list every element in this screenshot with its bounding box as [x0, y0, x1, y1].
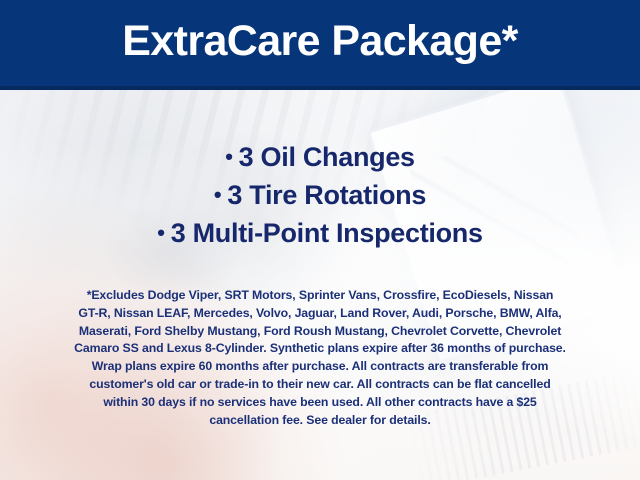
benefit-label: 3 Tire Rotations [227, 180, 426, 210]
disclaimer-text: *Excludes Dodge Viper, SRT Motors, Sprin… [26, 287, 614, 429]
disclaimer-line: within 30 days if no services have been … [26, 394, 614, 412]
extracare-package-ad: ExtraCare Package* •3 Oil Changes •3 Tir… [0, 0, 640, 480]
benefit-item-oil-changes: •3 Oil Changes [0, 138, 640, 176]
disclaimer-line: Wrap plans expire 60 months after purcha… [26, 358, 614, 376]
disclaimer-line: cancellation fee. See dealer for details… [26, 412, 614, 430]
page-title: ExtraCare Package* [122, 20, 518, 67]
disclaimer-line: *Excludes Dodge Viper, SRT Motors, Sprin… [26, 287, 614, 305]
disclaimer-line: GT-R, Nissan LEAF, Mercedes, Volvo, Jagu… [26, 305, 614, 323]
benefit-item-multi-point-inspections: •3 Multi-Point Inspections [0, 214, 640, 252]
benefits-list: •3 Oil Changes •3 Tire Rotations •3 Mult… [0, 138, 640, 252]
bullet-icon: • [225, 144, 232, 169]
disclaimer-line: Maserati, Ford Shelby Mustang, Ford Rous… [26, 323, 614, 341]
disclaimer-line: Camaro SS and Lexus 8-Cylinder. Syntheti… [26, 340, 614, 358]
disclaimer-line: customer's old car or trade-in to their … [26, 376, 614, 394]
bullet-icon: • [157, 220, 164, 245]
header-banner: ExtraCare Package* [0, 0, 640, 90]
bullet-icon: • [214, 182, 221, 207]
benefit-label: 3 Multi-Point Inspections [171, 218, 483, 248]
benefit-label: 3 Oil Changes [239, 142, 415, 172]
benefit-item-tire-rotations: •3 Tire Rotations [0, 176, 640, 214]
